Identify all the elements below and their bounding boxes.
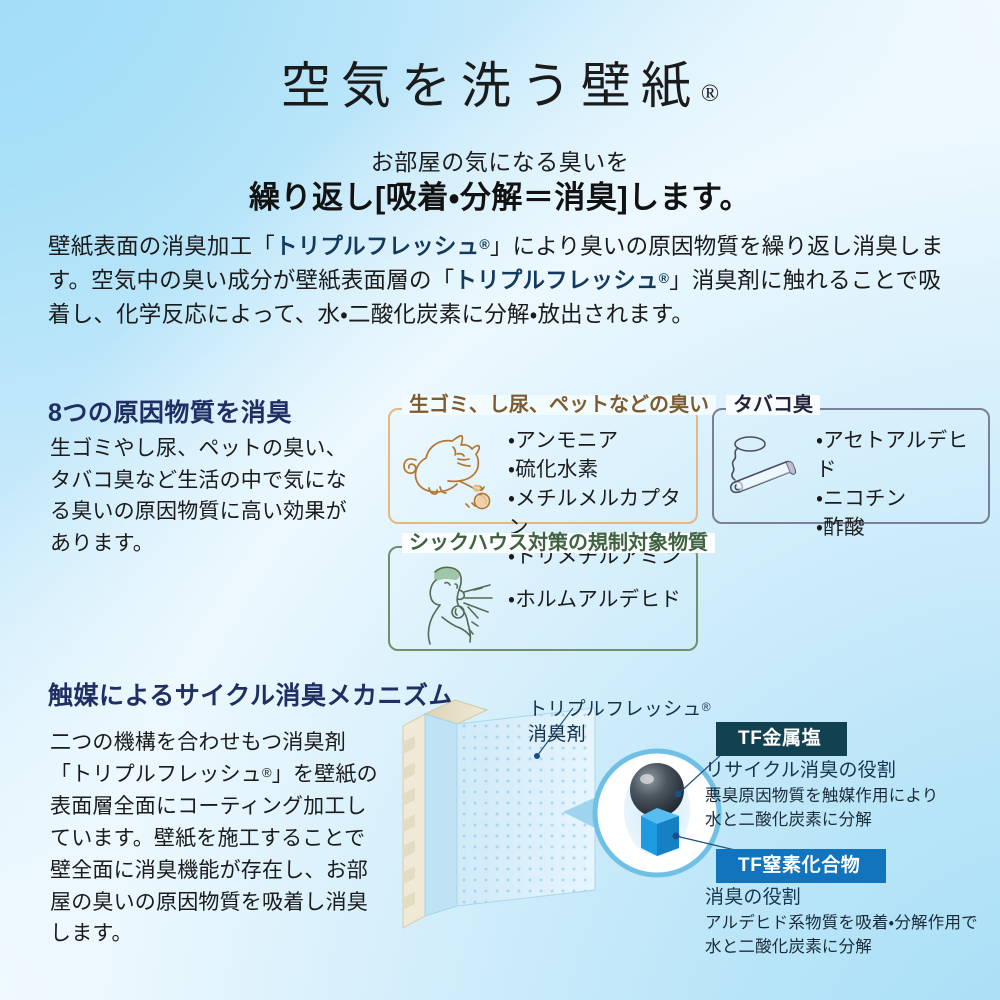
list-item: ・ニコチン [816, 484, 988, 513]
lead-line-2: 繰り返し[吸着・分解＝消臭]します。 [0, 172, 1000, 217]
list-item: ・酢酸 [816, 513, 988, 542]
brand-name-1: トリプルフレッシュ® [275, 234, 490, 259]
odor-box-pets-legend: 生ゴミ、し尿、ペットなどの臭い [402, 395, 716, 415]
mechanism-body-segment-2: 」を壁紙の表面層全面にコーティング加工しています。壁紙を施工することで壁全面に消… [50, 763, 378, 946]
odor-box-sick-house: シックハウス対策の規制対象物質 [388, 546, 698, 651]
diagram-label-line-2: 消臭剤 [528, 724, 586, 745]
list-item: ・アセトアルデヒド [816, 426, 988, 484]
registered-mark-icon: ® [659, 270, 670, 286]
registered-mark-icon: ® [479, 236, 490, 252]
cat-playing-icon [396, 424, 504, 515]
odor-box-sick-house-legend: シックハウス対策の規制対象物質 [402, 533, 715, 553]
brand-name-2-text: トリプルフレッシュ [454, 268, 658, 293]
callout-desc-line-1: 悪臭原因物質を触媒作用により [705, 785, 1000, 809]
mechanism-section-heading: 触媒によるサイクル消臭メカニズム [48, 676, 454, 712]
diagram-label-triple-fresh: トリプルフレッシュ® 消臭剤 [528, 697, 711, 747]
odor-box-tobacco-legend: タバコ臭 [726, 395, 820, 415]
page-title: 空気を洗う壁紙® [0, 46, 1000, 118]
odor-section-body: 生ゴミやし尿、ペットの臭い、タバコ臭など生活の中で気になる臭いの原因物質に高い効… [50, 433, 350, 559]
page-title-text: 空気を洗う壁紙 [281, 58, 701, 114]
list-item: ・アンモニア [508, 426, 696, 455]
callout-desc-line-2: 水と二酸化炭素に分解 [705, 809, 1000, 833]
callout-desc-line-2: 水と二酸化炭素に分解 [705, 936, 1000, 960]
odor-box-pets: 生ゴミ、し尿、ペットなどの臭い [388, 408, 698, 524]
intro-paragraph: 壁紙表面の消臭加工「トリプルフレッシュ®」により臭いの原因物質を繰り返し消臭しま… [48, 230, 956, 333]
registered-mark-icon: ® [701, 81, 719, 107]
callout-desc-line-1: アルデヒド系物質を吸着・分解作用で [705, 912, 1000, 936]
mechanism-section-body: 二つの機構を合わせもつ消臭剤「トリプルフレッシュ®」を壁紙の表面層全面にコーティ… [50, 727, 380, 950]
odor-section-heading: 8つの原因物質を消臭 [48, 393, 292, 429]
brand-name-1-text: トリプルフレッシュ [275, 234, 479, 259]
intro-segment-1: 壁紙表面の消臭加工「 [48, 234, 275, 259]
odor-box-tobacco-items: ・アセトアルデヒド ・ニコチン ・酢酸 [816, 426, 988, 542]
mechanism-brand-name: トリプルフレッシュ [71, 763, 262, 786]
callout-tf-nitrogen-compound: 消臭の役割 アルデヒド系物質を吸着・分解作用で 水と二酸化炭素に分解 [705, 885, 1000, 959]
list-item: ・硫化水素 [508, 455, 696, 484]
status-badge-tf-metal-salt: TF金属塩 [716, 722, 847, 756]
sneezing-person-icon [412, 560, 498, 651]
callout-role: 消臭の役割 [705, 885, 1000, 912]
diagram-label-line-1: トリプルフレッシュ [528, 699, 702, 720]
status-badge-tf-nitrogen-compound: TF窒素化合物 [716, 849, 886, 883]
registered-mark-icon: ® [262, 765, 272, 780]
odor-box-tobacco: タバコ臭 ・アセトアルデヒド ・ニコチン ・酢酸 [712, 408, 990, 524]
list-item: ・ホルムアルデヒド [508, 585, 681, 614]
registered-mark-icon: ® [702, 700, 711, 714]
cigarette-smoke-icon [724, 434, 810, 507]
callout-role: リサイクル消臭の役割 [705, 758, 1000, 785]
callout-tf-metal-salt: リサイクル消臭の役割 悪臭原因物質を触媒作用により 水と二酸化炭素に分解 [705, 758, 1000, 832]
brand-name-2: トリプルフレッシュ® [454, 268, 669, 293]
odor-box-sick-house-items: ・ホルムアルデヒド [508, 585, 681, 614]
